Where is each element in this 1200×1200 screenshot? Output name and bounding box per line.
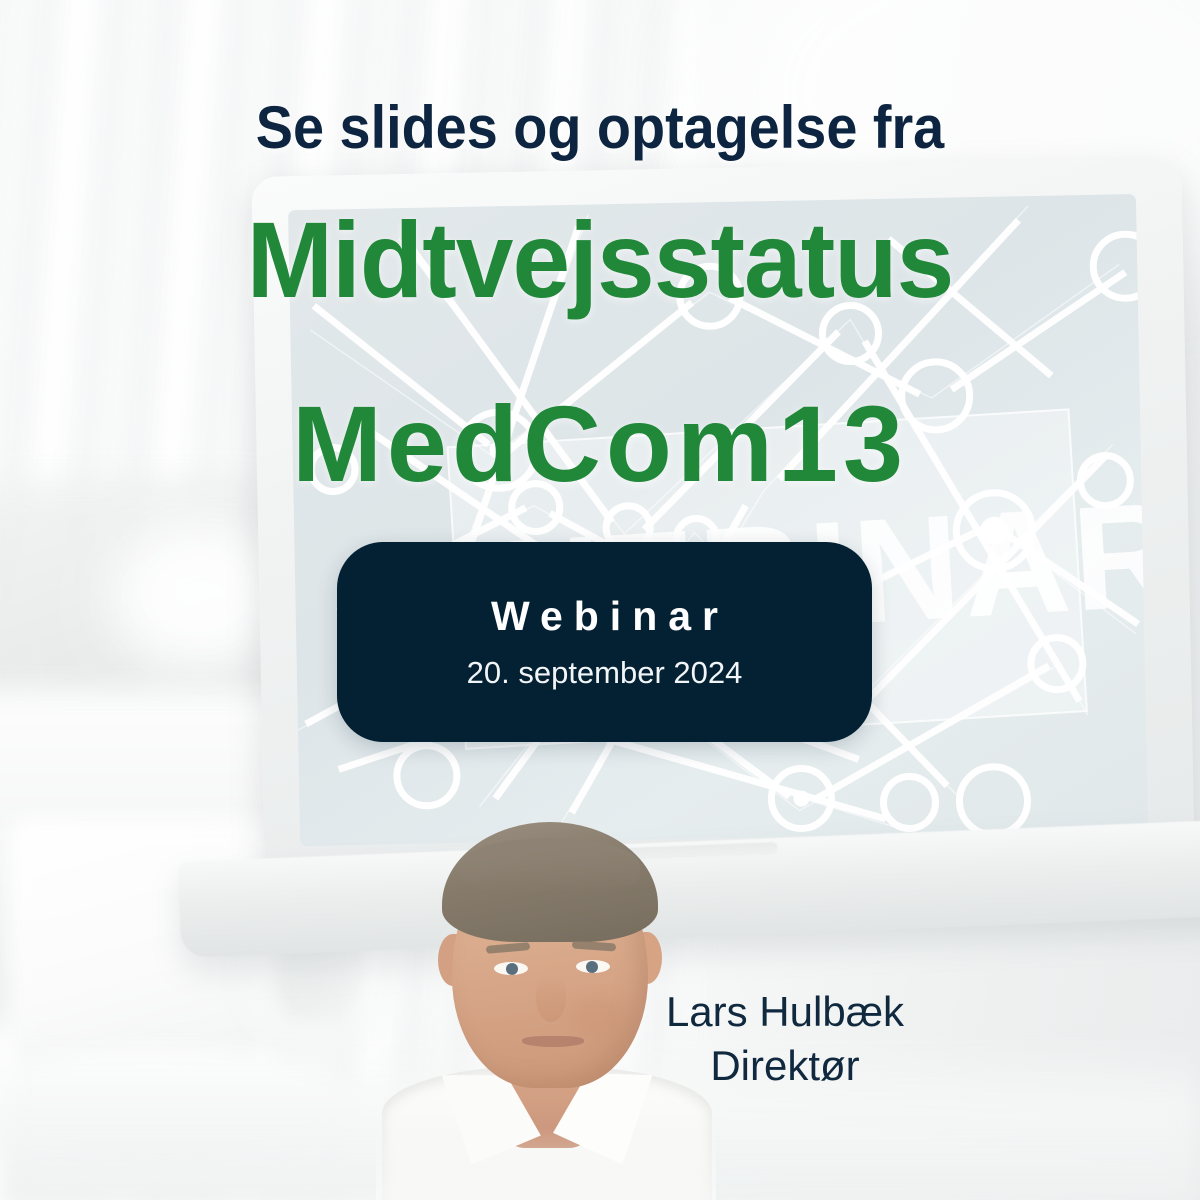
badge-label: Webinar bbox=[491, 596, 729, 637]
portrait-cheek bbox=[572, 998, 626, 1038]
portrait-nose bbox=[536, 974, 566, 1022]
badge-date: 20. september 2024 bbox=[467, 657, 743, 688]
title-line-1: Midtvejsstatus bbox=[24, 206, 1176, 314]
portrait-iris-right bbox=[586, 961, 598, 973]
speaker-caption: Lars Hulbæk Direktør bbox=[620, 985, 950, 1093]
webinar-badge: Webinar 20. september 2024 bbox=[337, 542, 872, 742]
title-line-2: MedCom13 bbox=[0, 390, 1200, 498]
speaker-role: Direktør bbox=[620, 1039, 950, 1093]
portrait-iris-left bbox=[506, 963, 518, 975]
headline-text: Se slides og optagelse fra bbox=[42, 98, 1158, 158]
portrait-hair-fringe bbox=[460, 838, 640, 892]
speaker-name: Lars Hulbæk bbox=[620, 985, 950, 1039]
portrait-mouth bbox=[522, 1036, 584, 1047]
portrait-bottom-fade bbox=[376, 1128, 716, 1200]
portrait-eye-left bbox=[494, 962, 528, 975]
promo-graphic: WEBINAR Se slides og optagelse fra Midtv… bbox=[0, 0, 1200, 1200]
portrait-eye-right bbox=[576, 960, 610, 973]
